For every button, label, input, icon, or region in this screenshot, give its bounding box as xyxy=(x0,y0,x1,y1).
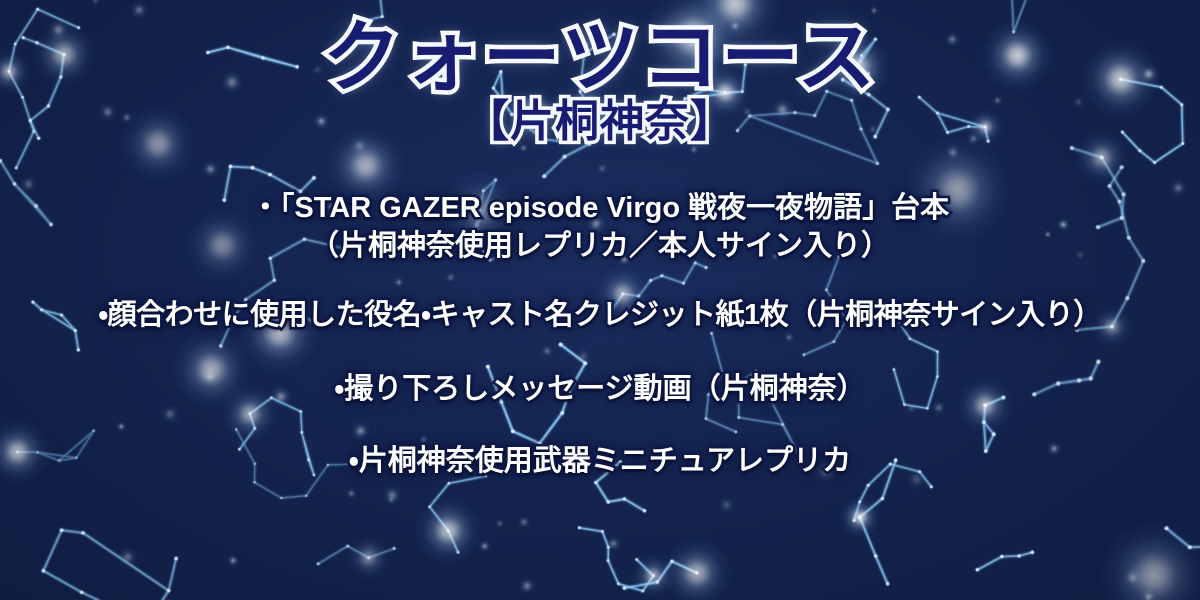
benefit-line: ・「STAR GAZER episode Virgo 戦夜一夜物語」台本 xyxy=(0,190,1200,228)
benefit-list: ・「STAR GAZER episode Virgo 戦夜一夜物語」台本 （片桐… xyxy=(0,190,1200,480)
benefit-line: ・顔合わせに使用した役名・キャスト名クレジット紙1枚（片桐神奈サイン入り） xyxy=(0,297,1200,335)
promo-banner: クォーツコース 【片桐神奈】 ・「STAR GAZER episode Virg… xyxy=(0,0,1200,600)
benefit-line: ・撮り下ろしメッセージ動画（片桐神奈） xyxy=(0,371,1200,409)
course-subtitle-character-name: 【片桐神奈】 xyxy=(0,100,1200,144)
benefit-line: （片桐神奈使用レプリカ／本人サイン入り） xyxy=(0,228,1200,266)
banner-content: クォーツコース 【片桐神奈】 ・「STAR GAZER episode Virg… xyxy=(0,0,1200,600)
title-block: クォーツコース 【片桐神奈】 xyxy=(0,18,1200,144)
benefit-item-message-video: ・撮り下ろしメッセージ動画（片桐神奈） xyxy=(0,371,1200,409)
benefit-item-credit-paper: ・顔合わせに使用した役名・キャスト名クレジット紙1枚（片桐神奈サイン入り） xyxy=(0,297,1200,335)
course-title: クォーツコース xyxy=(0,18,1200,96)
benefit-line: ・片桐神奈使用武器ミニチュアレプリカ xyxy=(0,443,1200,481)
benefit-item-script-book: ・「STAR GAZER episode Virgo 戦夜一夜物語」台本 （片桐… xyxy=(0,190,1200,265)
benefit-item-weapon-replica: ・片桐神奈使用武器ミニチュアレプリカ xyxy=(0,443,1200,481)
